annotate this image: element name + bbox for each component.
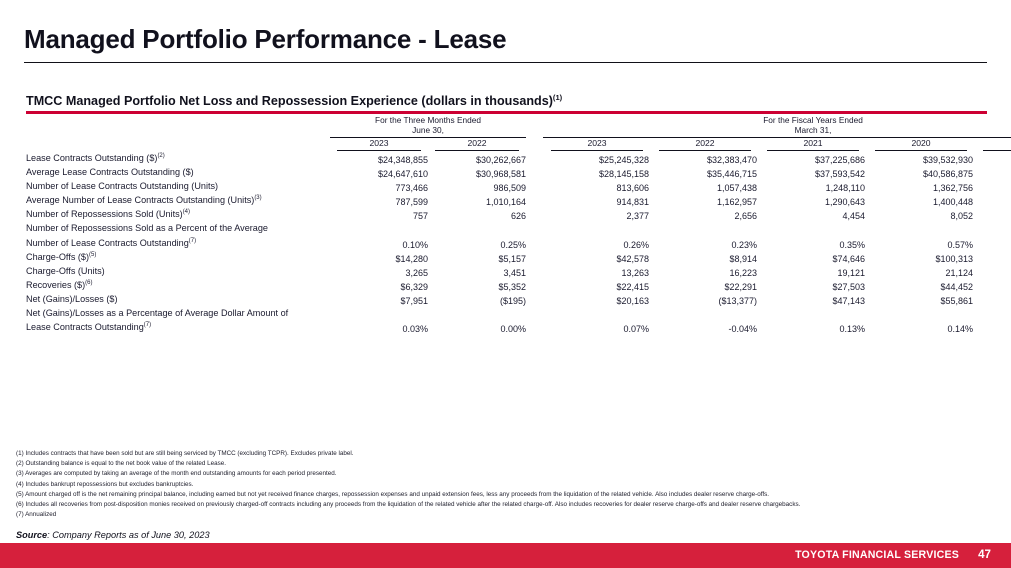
spacer-cell xyxy=(26,125,330,135)
table-row: Net (Gains)/Losses ($)$7,951($195)$20,16… xyxy=(26,292,1011,306)
spacer-cell xyxy=(526,278,543,292)
table-cell: 914,831 xyxy=(543,193,651,207)
group-date-quarter: June 30, xyxy=(330,125,526,135)
table-cell: $32,383,470 xyxy=(651,151,759,165)
table-heading-text: TMCC Managed Portfolio Net Loss and Repo… xyxy=(26,94,553,108)
column-header-fy-2020: 2020 xyxy=(867,138,975,148)
spacer-cell xyxy=(26,138,330,148)
table-cell: $5,157 xyxy=(428,250,526,264)
table-cell: 0.78% xyxy=(975,221,1011,249)
table-cell: $28,145,158 xyxy=(543,165,651,179)
table-heading: TMCC Managed Portfolio Net Loss and Repo… xyxy=(26,93,562,108)
footnote-item: (4) Includes bankrupt repossessions but … xyxy=(16,480,991,490)
table-cell: 0.23% xyxy=(651,221,759,249)
row-label: Average Number of Lease Contracts Outsta… xyxy=(26,193,330,207)
row-label: Recoveries ($)(6) xyxy=(26,278,330,292)
column-header-fy-2021: 2021 xyxy=(759,138,867,148)
table-cell: 1,362,756 xyxy=(867,179,975,193)
table-cell: 0.10% xyxy=(330,221,428,249)
table-cell: 1,290,643 xyxy=(759,193,867,207)
spacer-cell xyxy=(526,306,543,334)
table-cell: 0.07% xyxy=(543,306,651,334)
footnote-item: (5) Amount charged off is the net remain… xyxy=(16,490,991,500)
table-cell: $6,329 xyxy=(330,278,428,292)
footnote-item: (1) Includes contracts that have been so… xyxy=(16,449,991,459)
row-label: Lease Contracts Outstanding ($)(2) xyxy=(26,151,330,165)
table-cell: 1,473,405 xyxy=(975,193,1011,207)
performance-table: For the Three Months Ended For the Fisca… xyxy=(26,115,1011,334)
table-cell: 0.03% xyxy=(330,306,428,334)
title-divider xyxy=(24,62,987,63)
row-label: Charge-Offs (Units) xyxy=(26,264,330,278)
spacer-cell xyxy=(526,193,543,207)
column-header-fy-2019: 2019 xyxy=(975,138,1011,148)
table-cell: 757 xyxy=(330,207,428,221)
table-cell: $42,578 xyxy=(543,250,651,264)
column-header-q-2023: 2023 xyxy=(330,138,428,148)
footnote-item: (6) Includes all recoveries from post-di… xyxy=(16,500,991,510)
spacer-cell xyxy=(526,125,543,135)
table-cell: $74,646 xyxy=(759,250,867,264)
column-header-fy-2023: 2023 xyxy=(543,138,651,148)
table-group-date-row: June 30, March 31, xyxy=(26,125,1011,135)
spacer-cell xyxy=(526,264,543,278)
footnote-marker: (5) xyxy=(89,252,96,258)
row-label: Net (Gains)/Losses as a Percentage of Av… xyxy=(26,306,330,334)
table-cell: 21,124 xyxy=(867,264,975,278)
source-line: Source: Company Reports as of June 30, 2… xyxy=(16,530,210,540)
table-cell: $41,228,179 xyxy=(975,151,1011,165)
table-cell: $44,452 xyxy=(867,278,975,292)
spacer-cell xyxy=(526,151,543,165)
spacer-cell xyxy=(526,138,543,148)
table-cell: $25,245,328 xyxy=(543,151,651,165)
table-row: Number of Lease Contracts Outstanding (U… xyxy=(26,179,1011,193)
row-label: Charge-Offs ($)(5) xyxy=(26,250,330,264)
table-cell: 0.35% xyxy=(759,221,867,249)
table-cell: $87,910 xyxy=(975,292,1011,306)
table-cell: $100,313 xyxy=(867,250,975,264)
table-cell: 4,454 xyxy=(759,207,867,221)
table-heading-footnote-marker: (1) xyxy=(553,93,562,102)
table-cell: 0.57% xyxy=(867,221,975,249)
table-row: Charge-Offs ($)(5)$14,280$5,157$42,578$8… xyxy=(26,250,1011,264)
table-cell: $27,503 xyxy=(759,278,867,292)
table-cell: 1,441,680 xyxy=(975,179,1011,193)
table-cell: 0.14% xyxy=(867,306,975,334)
footnote-item: (7) Annualized xyxy=(16,510,991,520)
footnote-marker: (7) xyxy=(144,322,151,328)
table-cell: 986,509 xyxy=(428,179,526,193)
table-cell: -0.04% xyxy=(651,306,759,334)
table-cell: $24,647,610 xyxy=(330,165,428,179)
spacer-cell xyxy=(26,115,330,125)
column-header-q-2022: 2022 xyxy=(428,138,526,148)
table-cell: $7,951 xyxy=(330,292,428,306)
table-cell: 16,223 xyxy=(651,264,759,278)
footer-brand: TOYOTA FINANCIAL SERVICES xyxy=(795,549,959,561)
table-cell: $22,291 xyxy=(651,278,759,292)
table-cell: $35,446,715 xyxy=(651,165,759,179)
table-cell: 3,265 xyxy=(330,264,428,278)
table-cell: $5,352 xyxy=(428,278,526,292)
table-cell: $8,914 xyxy=(651,250,759,264)
table-row: Number of Repossessions Sold as a Percen… xyxy=(26,221,1011,249)
table-cell: 2,377 xyxy=(543,207,651,221)
table-cell: 3,451 xyxy=(428,264,526,278)
table-cell: 1,248,110 xyxy=(759,179,867,193)
table-cell: 11,474 xyxy=(975,207,1011,221)
footnote-marker: (2) xyxy=(157,153,164,159)
table-cell: 626 xyxy=(428,207,526,221)
table-cell: $24,348,855 xyxy=(330,151,428,165)
table-cell: $134,435 xyxy=(975,250,1011,264)
spacer-cell xyxy=(526,292,543,306)
group-title-quarter: For the Three Months Ended xyxy=(330,115,526,125)
table-cell: $39,532,930 xyxy=(867,151,975,165)
table-row: Average Lease Contracts Outstanding ($)$… xyxy=(26,165,1011,179)
footnote-marker: (6) xyxy=(85,280,92,286)
table-cell: 787,599 xyxy=(330,193,428,207)
footnote-item: (2) Outstanding balance is equal to the … xyxy=(16,459,991,469)
column-header-fy-2022: 2022 xyxy=(651,138,759,148)
table-cell: $47,143 xyxy=(759,292,867,306)
footnote-marker: (4) xyxy=(183,209,190,215)
footnotes-block: (1) Includes contracts that have been so… xyxy=(16,449,991,520)
page-title: Managed Portfolio Performance - Lease xyxy=(24,24,506,55)
table-cell: $37,593,542 xyxy=(759,165,867,179)
table-cell: 0.13% xyxy=(759,306,867,334)
spacer-cell xyxy=(526,115,543,125)
group-title-fiscal: For the Fiscal Years Ended xyxy=(543,115,1011,125)
footnote-item: (3) Averages are computed by taking an a… xyxy=(16,469,991,479)
table-cell: $30,262,667 xyxy=(428,151,526,165)
table-year-row: 2023 2022 2023 2022 2021 2020 2019 xyxy=(26,138,1011,148)
footer-page-number: 47 xyxy=(978,548,991,561)
table-cell: 30,396 xyxy=(975,264,1011,278)
table-cell: $30,968,581 xyxy=(428,165,526,179)
table-group-title-row: For the Three Months Ended For the Fisca… xyxy=(26,115,1011,125)
group-date-fiscal: March 31, xyxy=(543,125,1011,135)
footer-bar: TOYOTA FINANCIAL SERVICES 47 xyxy=(0,543,1011,568)
table-cell: 1,400,448 xyxy=(867,193,975,207)
heading-accent-rule xyxy=(26,111,987,114)
table-row: Number of Repossessions Sold (Units)(4)7… xyxy=(26,207,1011,221)
table-cell: 0.00% xyxy=(428,306,526,334)
table-cell: $46,525 xyxy=(975,278,1011,292)
spacer-cell xyxy=(526,250,543,264)
table-cell: 0.25% xyxy=(428,221,526,249)
table-row: Net (Gains)/Losses as a Percentage of Av… xyxy=(26,306,1011,334)
spacer-cell xyxy=(526,179,543,193)
table-cell: 8,052 xyxy=(867,207,975,221)
table-cell: 773,466 xyxy=(330,179,428,193)
row-label: Average Lease Contracts Outstanding ($) xyxy=(26,165,330,179)
table-cell: ($195) xyxy=(428,292,526,306)
table-body: Lease Contracts Outstanding ($)(2)$24,34… xyxy=(26,151,1011,334)
table-cell: $14,280 xyxy=(330,250,428,264)
table-cell: $41,961,871 xyxy=(975,165,1011,179)
table-cell: 2,656 xyxy=(651,207,759,221)
table-row: Average Number of Lease Contracts Outsta… xyxy=(26,193,1011,207)
source-label: Source xyxy=(16,530,47,540)
table-cell: 1,010,164 xyxy=(428,193,526,207)
spacer-cell xyxy=(526,207,543,221)
table-cell: $22,415 xyxy=(543,278,651,292)
table-row: Recoveries ($)(6)$6,329$5,352$22,415$22,… xyxy=(26,278,1011,292)
table-cell: 13,263 xyxy=(543,264,651,278)
table-cell: 0.26% xyxy=(543,221,651,249)
footnote-marker: (3) xyxy=(254,195,261,201)
table-cell: 0.21% xyxy=(975,306,1011,334)
footnote-marker: (7) xyxy=(189,238,196,244)
table-cell: 1,162,957 xyxy=(651,193,759,207)
table-cell: 1,057,438 xyxy=(651,179,759,193)
row-label: Number of Lease Contracts Outstanding (U… xyxy=(26,179,330,193)
table-cell: $20,163 xyxy=(543,292,651,306)
table-cell: 813,606 xyxy=(543,179,651,193)
spacer-cell xyxy=(526,165,543,179)
table-cell: $55,861 xyxy=(867,292,975,306)
table-cell: $37,225,686 xyxy=(759,151,867,165)
table-cell: $40,586,875 xyxy=(867,165,975,179)
row-label: Net (Gains)/Losses ($) xyxy=(26,292,330,306)
spacer-cell xyxy=(526,221,543,249)
table-row: Charge-Offs (Units)3,2653,45113,26316,22… xyxy=(26,264,1011,278)
table-cell: 19,121 xyxy=(759,264,867,278)
row-label: Number of Repossessions Sold as a Percen… xyxy=(26,221,330,249)
table-row: Lease Contracts Outstanding ($)(2)$24,34… xyxy=(26,151,1011,165)
table-cell: ($13,377) xyxy=(651,292,759,306)
row-label: Number of Repossessions Sold (Units)(4) xyxy=(26,207,330,221)
source-text: : Company Reports as of June 30, 2023 xyxy=(47,530,209,540)
